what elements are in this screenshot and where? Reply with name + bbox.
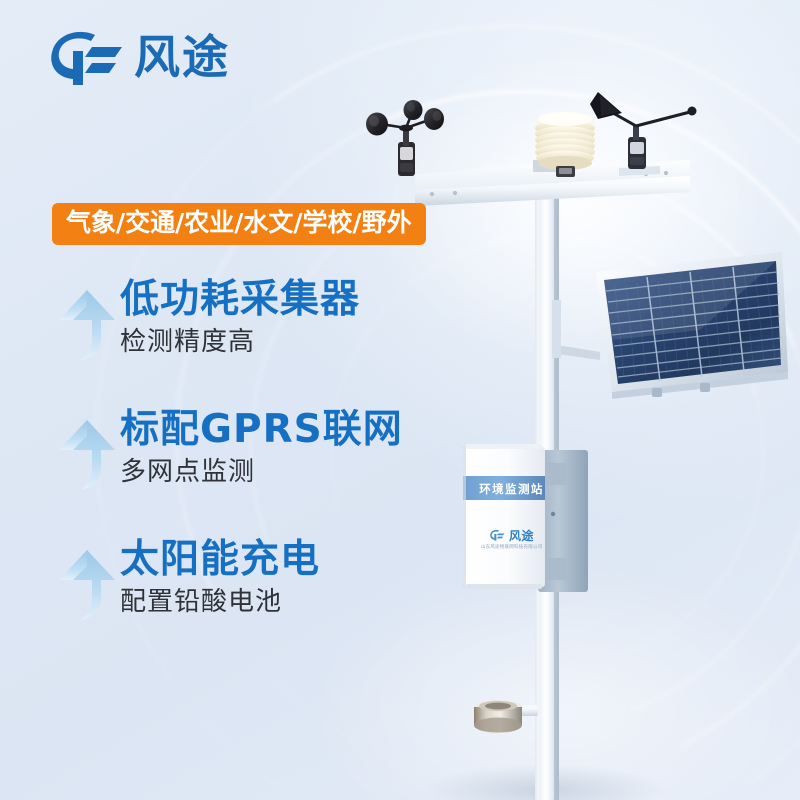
feature-subtitle: 检测精度高 xyxy=(120,328,360,358)
feature-text: 太阳能充电 配置铅酸电池 xyxy=(120,538,320,618)
brand-logo[interactable]: 风途 xyxy=(48,28,230,86)
up-arrow-icon xyxy=(56,548,118,624)
feature-item: 低功耗采集器 检测精度高 xyxy=(52,278,442,408)
product-banner: 环境监测站 风途 山东风途物联网科技有限公司 风途 气象/交通/农业/水文/学校… xyxy=(0,0,800,800)
feature-text: 标配GPRS联网 多网点监测 xyxy=(120,408,403,488)
control-box-brand-name: 风途 xyxy=(509,527,534,544)
feature-subtitle: 配置铅酸电池 xyxy=(120,588,320,618)
brand-name: 风途 xyxy=(134,34,230,80)
anemometer xyxy=(366,100,444,176)
feature-item: 标配GPRS联网 多网点监测 xyxy=(52,408,442,538)
control-box-label: 环境监测站 xyxy=(464,481,559,497)
fengtu-g-logo-icon xyxy=(48,28,124,86)
feature-list: 低功耗采集器 检测精度高 标配GPRS联网 多网点监测 太阳能充电 配置铅酸电池 xyxy=(52,278,442,668)
radiation-shield xyxy=(533,112,595,177)
feature-title: 低功耗采集器 xyxy=(120,278,360,322)
tagline-badge: 气象/交通/农业/水文/学校/野外 xyxy=(52,203,426,245)
rain-gauge xyxy=(474,700,538,733)
feature-title: 标配GPRS联网 xyxy=(120,408,403,452)
feature-title: 太阳能充电 xyxy=(120,538,320,582)
fengtu-g-logo-icon xyxy=(489,529,506,542)
up-arrow-icon xyxy=(56,418,118,494)
control-box-company: 山东风途物联网科技有限公司 xyxy=(481,544,543,550)
mast xyxy=(535,160,559,800)
crossarm xyxy=(398,160,690,207)
feature-item: 太阳能充电 配置铅酸电池 xyxy=(52,538,442,668)
control-box xyxy=(463,444,588,592)
control-box-brand: 风途 山东风途物联网科技有限公司 xyxy=(463,527,560,550)
feature-subtitle: 多网点监测 xyxy=(120,458,403,488)
wind-vane xyxy=(590,92,697,176)
solar-panel xyxy=(552,252,788,399)
up-arrow-icon xyxy=(56,288,118,364)
tagline-container: 气象/交通/农业/水文/学校/野外 xyxy=(52,203,426,245)
feature-text: 低功耗采集器 检测精度高 xyxy=(120,278,360,358)
